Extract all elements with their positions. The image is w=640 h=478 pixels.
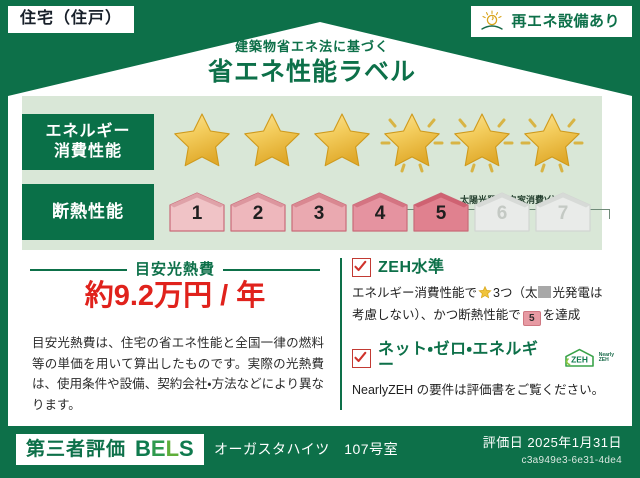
energy-label-line1: エネルギー <box>45 122 130 142</box>
ratings-panel: 太陽光発電(自家消費)分 エネルギー 消費性能 断熱性能 1234567 <box>22 96 602 250</box>
label-title: 建築物省エネ法に基づく 省エネ性能ラベル <box>0 40 624 85</box>
svg-text:ZEH: ZEH <box>571 354 588 364</box>
insulation-level-2: 2 <box>229 191 287 233</box>
net-zero-energy-heading: ネット・ゼロ・エネルギー <box>378 342 554 374</box>
star-5 <box>448 110 516 174</box>
net-zero-energy-item: ネット・ゼロ・エネルギー ZEH Nearly ZEH NearlyZEH の要… <box>352 342 614 400</box>
insulation-level-5: 5 <box>412 191 470 233</box>
title-main: 省エネ性能ラベル <box>0 60 624 85</box>
building-type-tag: 住宅（住戸） <box>8 6 134 33</box>
label-footer: 第三者評価 BELS オーガスタハイツ 107号室 評価日 2025年1月31日… <box>0 426 640 478</box>
insulation-level-number: 3 <box>290 204 348 223</box>
utility-cost-heading: 目安光熱費 <box>30 262 320 277</box>
star-6 <box>518 110 586 174</box>
net-zero-energy-description: NearlyZEH の要件は評価書をご覧ください。 <box>352 380 614 400</box>
property-name: オーガスタハイツ 107号室 <box>214 442 398 456</box>
checkbox-checked-icon-2 <box>352 349 371 368</box>
utility-cost-value: 約9.2万円 / 年 <box>30 282 320 311</box>
heading-rule-right <box>223 269 320 271</box>
inline-level-badge: 5 <box>523 311 541 326</box>
utility-cost-heading-text: 目安光熱費 <box>135 262 215 277</box>
insulation-level-number: 7 <box>534 204 592 223</box>
insulation-level-number: 4 <box>351 204 409 223</box>
sun-icon <box>479 10 505 32</box>
star-4 <box>378 110 446 174</box>
insulation-level-number: 1 <box>168 204 226 223</box>
insulation-level-7: 7 <box>534 191 592 233</box>
redaction-block <box>538 286 551 298</box>
insulation-level-scale: 1234567 <box>168 191 592 233</box>
utility-cost-note: 目安光熱費は、住宅の省エネ性能と全国一律の燃料等の単価を用いて算出したものです。… <box>32 333 324 416</box>
renewable-badge-label: 再エネ設備あり <box>511 14 620 29</box>
insulation-performance-label: 断熱性能 <box>22 184 154 240</box>
checkbox-checked-icon <box>352 258 371 277</box>
energy-label-line2: 消費性能 <box>54 142 122 162</box>
energy-performance-row: エネルギー 消費性能 <box>22 110 586 174</box>
zeh-desc-part4: を達成 <box>543 308 581 322</box>
zeh-standard-heading: ZEH水準 <box>378 260 445 276</box>
insulation-level-6: 6 <box>473 191 531 233</box>
energy-performance-label: 住宅（住戸） 再エネ設備あり 建築物省エネ法に基づく 省エネ性能ラベル <box>0 0 640 478</box>
star-rating <box>168 110 586 174</box>
zeh-logo-sub2: ZEH <box>599 358 614 364</box>
evaluation-id: c3a949e3-6e31-4de4 <box>522 456 622 466</box>
bels-certification-mark: 第三者評価 BELS <box>16 434 204 465</box>
zeh-section: ZEH水準 エネルギー消費性能で3つ（太光発電は考慮しない）、かつ断熱性能で5を… <box>352 258 614 400</box>
star-3 <box>308 110 376 174</box>
zeh-standard-item: ZEH水準 エネルギー消費性能で3つ（太光発電は考慮しない）、かつ断熱性能で5を… <box>352 258 614 326</box>
insulation-level-number: 2 <box>229 204 287 223</box>
title-subtitle: 建築物省エネ法に基づく <box>0 40 624 53</box>
evaluation-date: 評価日 2025年1月31日 <box>483 436 622 449</box>
insulation-performance-row: 断熱性能 1234567 <box>22 184 592 240</box>
zeh-desc-part1: エネルギー消費性能で <box>352 286 477 300</box>
vertical-divider <box>340 258 342 410</box>
insulation-level-3: 3 <box>290 191 348 233</box>
zeh-standard-description: エネルギー消費性能で3つ（太光発電は考慮しない）、かつ断熱性能で5を達成 <box>352 283 614 326</box>
insulation-level-number: 5 <box>412 204 470 223</box>
energy-performance-label: エネルギー 消費性能 <box>22 114 154 170</box>
insulation-level-number: 6 <box>473 204 531 223</box>
zeh-logo: ZEH Nearly ZEH <box>563 348 614 368</box>
mini-star-icon <box>478 285 492 305</box>
insulation-level-1: 1 <box>168 191 226 233</box>
zeh-desc-part2: 3つ（太 <box>493 286 537 300</box>
bels-jp-label: 第三者評価 <box>26 440 126 459</box>
star-1 <box>168 110 236 174</box>
insulation-level-4: 4 <box>351 191 409 233</box>
renewable-equipment-badge: 再エネ設備あり <box>471 6 632 37</box>
heading-rule-left <box>30 269 127 271</box>
star-2 <box>238 110 306 174</box>
bels-logo: BELS <box>135 438 194 460</box>
